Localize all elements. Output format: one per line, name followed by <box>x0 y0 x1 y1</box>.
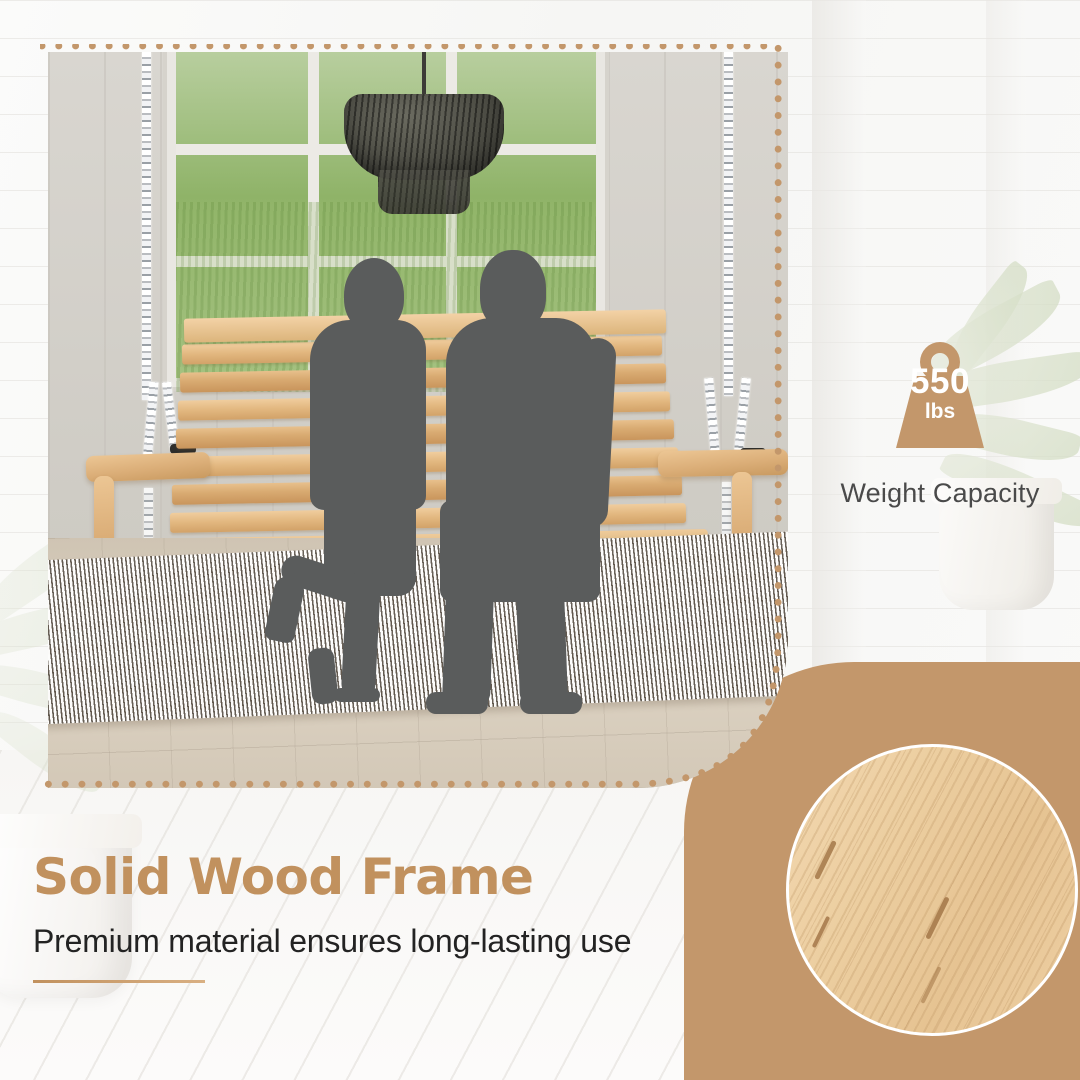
hanging-chain-right-a <box>724 52 733 396</box>
hanging-chain-left-a <box>142 52 151 400</box>
striped-rug <box>48 531 788 725</box>
product-feature-card: 550 lbs Weight Capacity Solid Wood Frame… <box>0 0 1080 1080</box>
headline-underline <box>33 980 205 983</box>
weight-unit: lbs <box>880 400 1000 424</box>
armrest-right <box>658 449 788 477</box>
feature-subtitle: Premium material ensures long-lasting us… <box>33 923 631 960</box>
pendant-lamp-cord <box>422 52 426 98</box>
weight-capacity-label: Weight Capacity <box>812 478 1068 509</box>
weight-capacity-badge: 550 lbs Weight Capacity <box>812 338 1068 509</box>
headline-block: Solid Wood Frame Premium material ensure… <box>33 852 631 983</box>
pendant-lamp-neck <box>378 170 470 214</box>
weight-value: 550 <box>880 362 1000 402</box>
feature-title: Solid Wood Frame <box>33 852 631 902</box>
product-photo <box>48 52 788 788</box>
pendant-lamp <box>344 94 504 180</box>
wood-grain-closeup-circle <box>786 744 1078 1036</box>
